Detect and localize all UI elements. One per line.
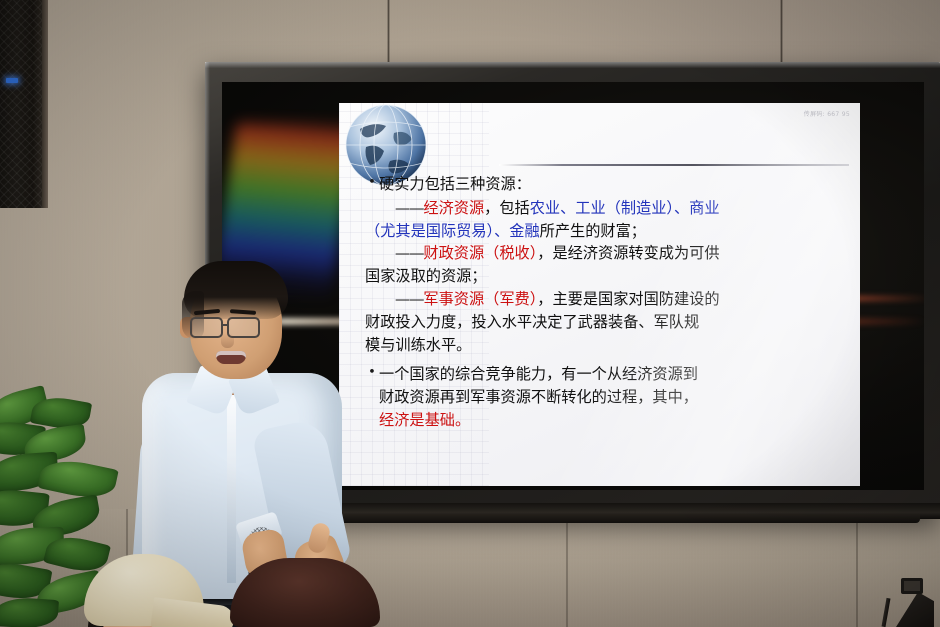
wall-lower-seam bbox=[856, 509, 858, 627]
tv-bezel-highlight bbox=[205, 62, 940, 68]
presenter-mouth bbox=[216, 351, 246, 364]
line-6-black: 模与训练水平。 bbox=[365, 336, 471, 354]
wall-speaker bbox=[0, 0, 42, 208]
line-5-black: 财政投入力度，投入水平决定了武器装备、军队规 bbox=[365, 313, 699, 331]
glasses-bridge bbox=[223, 324, 229, 326]
slide-bullet-2: • 一个国家的综合竞争能力，有一个从经济资源到 财政资源再到军事资源不断转化的过… bbox=[365, 363, 835, 431]
slide-line-0: ——经济资源，包括农业、工业（制造业）、商业 bbox=[365, 197, 835, 220]
line-1-blue: （尤其是国际贸易）、金融 bbox=[365, 222, 540, 240]
audience-cap-person bbox=[62, 548, 242, 627]
line-0-blue: 农业、工业（制造业）、商业 bbox=[530, 199, 720, 217]
slide-line-1: （尤其是国际贸易）、金融所产生的财富； bbox=[365, 220, 835, 243]
line-2-dash: —— bbox=[395, 244, 423, 262]
line-4-red: 军事资源（军费） bbox=[423, 290, 537, 308]
powerpoint-slide: 传屏码: 667 95 • 硬实力包括三种资源： ——经济资源，包括农业、工业（… bbox=[339, 103, 860, 486]
slide-line-5: 财政投入力度，投入水平决定了武器装备、军队规 bbox=[365, 311, 835, 334]
slide-line-6: 模与训练水平。 bbox=[365, 334, 835, 357]
line-4-black: ，主要是国家对国防建设的 bbox=[537, 290, 719, 308]
presenter-nose bbox=[221, 333, 234, 348]
wall-lower-seam bbox=[566, 509, 568, 627]
speaker-led-indicator bbox=[6, 78, 18, 83]
line-2-black: ，是经济资源转变成为可供 bbox=[537, 244, 719, 262]
bullet-2-line-0: 一个国家的综合竞争能力，有一个从经济资源到 bbox=[379, 363, 835, 386]
line-2-red: 财政资源（税收） bbox=[423, 244, 537, 262]
bullet-2-line-1: 财政资源再到军事资源不断转化的过程，其中， bbox=[379, 386, 835, 409]
line-1-black: 所产生的财富； bbox=[540, 222, 646, 240]
slide-body: • 硬实力包括三种资源： ——经济资源，包括农业、工业（制造业）、商业 （尤其是… bbox=[365, 173, 835, 433]
presentation-photo-scene: 传屏码: 667 95 • 硬实力包括三种资源： ——经济资源，包括农业、工业（… bbox=[0, 0, 940, 627]
slide-line-3: 国家汲取的资源； bbox=[365, 265, 835, 288]
slide-bullet-1: • 硬实力包括三种资源： bbox=[365, 173, 835, 196]
speaker-grill bbox=[0, 0, 42, 208]
speaker-edge-trim bbox=[42, 0, 48, 208]
baseball-cap-brim bbox=[150, 597, 235, 627]
slide-line-2: ——财政资源（税收），是经济资源转变成为可供 bbox=[365, 242, 835, 265]
bullet-2-text: 一个国家的综合竞争能力，有一个从经济资源到 财政资源再到军事资源不断转化的过程，… bbox=[379, 363, 835, 431]
screen-cast-watermark: 传屏码: 667 95 bbox=[804, 109, 850, 118]
glasses-lens-left bbox=[190, 317, 223, 338]
line-0-dash: —— bbox=[395, 199, 423, 217]
bullet-2-line-2: 经济是基础。 bbox=[379, 409, 835, 432]
slide-divider-rule bbox=[499, 164, 849, 166]
bullet-marker-icon: • bbox=[365, 173, 379, 193]
line-3-black: 国家汲取的资源； bbox=[365, 267, 487, 285]
line-0-red: 经济资源 bbox=[423, 199, 484, 217]
line-0-black: ，包括 bbox=[484, 199, 530, 217]
line-4-dash: —— bbox=[395, 290, 423, 308]
bullet-1-text: 硬实力包括三种资源： bbox=[379, 173, 835, 196]
camera-head-icon bbox=[901, 578, 923, 594]
bullet-1-seg-0: 硬实力包括三种资源： bbox=[379, 175, 531, 193]
slide-line-4: ——军事资源（军费），主要是国家对国防建设的 bbox=[365, 288, 835, 311]
